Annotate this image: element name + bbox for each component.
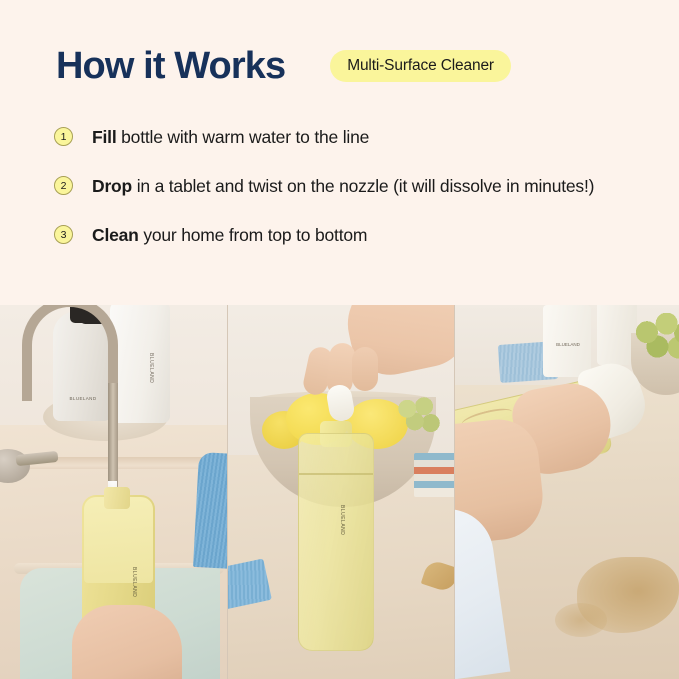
dish-soap-label: BLUELAND bbox=[139, 353, 155, 401]
bottle-foam bbox=[84, 497, 153, 583]
step-body-2: in a tablet and twist on the nozzle (it … bbox=[132, 176, 594, 196]
page-title: How it Works bbox=[56, 46, 285, 86]
header-row: How it Works Multi-Surface Cleaner bbox=[56, 46, 511, 86]
shelf-bottle-label: BLUELAND bbox=[549, 341, 587, 357]
list-item: 2 Drop in a tablet and twist on the nozz… bbox=[54, 173, 634, 199]
faucet-neck bbox=[22, 305, 118, 401]
instructions-panel: How it Works Multi-Surface Cleaner 1 Fil… bbox=[0, 0, 679, 305]
step-body-3: your home from top to bottom bbox=[139, 225, 368, 245]
finger bbox=[352, 347, 378, 391]
step-text-2: Drop in a tablet and twist on the nozzle… bbox=[92, 173, 594, 199]
liquid-spill-secondary bbox=[555, 603, 607, 637]
step-body-1: bottle with warm water to the line bbox=[116, 127, 369, 147]
photo-step-1-fill-bottle: BLUELAND BLUELAND BLUELAND bbox=[0, 305, 227, 679]
fill-line bbox=[299, 473, 373, 475]
list-item: 3 Clean your home from top to bottom bbox=[54, 222, 634, 248]
step-text-3: Clean your home from top to bottom bbox=[92, 222, 367, 248]
step-number-badge-3: 3 bbox=[54, 225, 73, 244]
green-grapes bbox=[635, 313, 679, 361]
step-keyword-3: Clean bbox=[92, 225, 139, 245]
step-keyword-2: Drop bbox=[92, 176, 132, 196]
green-grapes bbox=[398, 397, 440, 439]
how-it-works-infographic: How it Works Multi-Surface Cleaner 1 Fil… bbox=[0, 0, 679, 679]
step-text-1: Fill bottle with warm water to the line bbox=[92, 124, 369, 150]
blue-microfiber-cloth bbox=[193, 452, 227, 569]
photo-step-2-drop-tablet: BLUELAND bbox=[227, 305, 455, 679]
step-keyword-1: Fill bbox=[92, 127, 116, 147]
hand-holding-bottle bbox=[72, 605, 182, 679]
stacked-books bbox=[414, 453, 455, 497]
photo-strip: BLUELAND BLUELAND BLUELAND bbox=[0, 305, 679, 679]
step-number-badge-1: 1 bbox=[54, 127, 73, 146]
photo-step-3-clean-surface: BLUELAND BLUELAND bbox=[455, 305, 679, 679]
step-number-badge-2: 2 bbox=[54, 176, 73, 195]
cleaner-bottle-label: BLUELAND bbox=[328, 505, 346, 563]
product-badge: Multi-Surface Cleaner bbox=[330, 50, 511, 82]
steps-list: 1 Fill bottle with warm water to the lin… bbox=[54, 124, 634, 271]
bottle-neck bbox=[104, 487, 130, 509]
faucet-spout bbox=[108, 383, 118, 489]
list-item: 1 Fill bottle with warm water to the lin… bbox=[54, 124, 634, 150]
